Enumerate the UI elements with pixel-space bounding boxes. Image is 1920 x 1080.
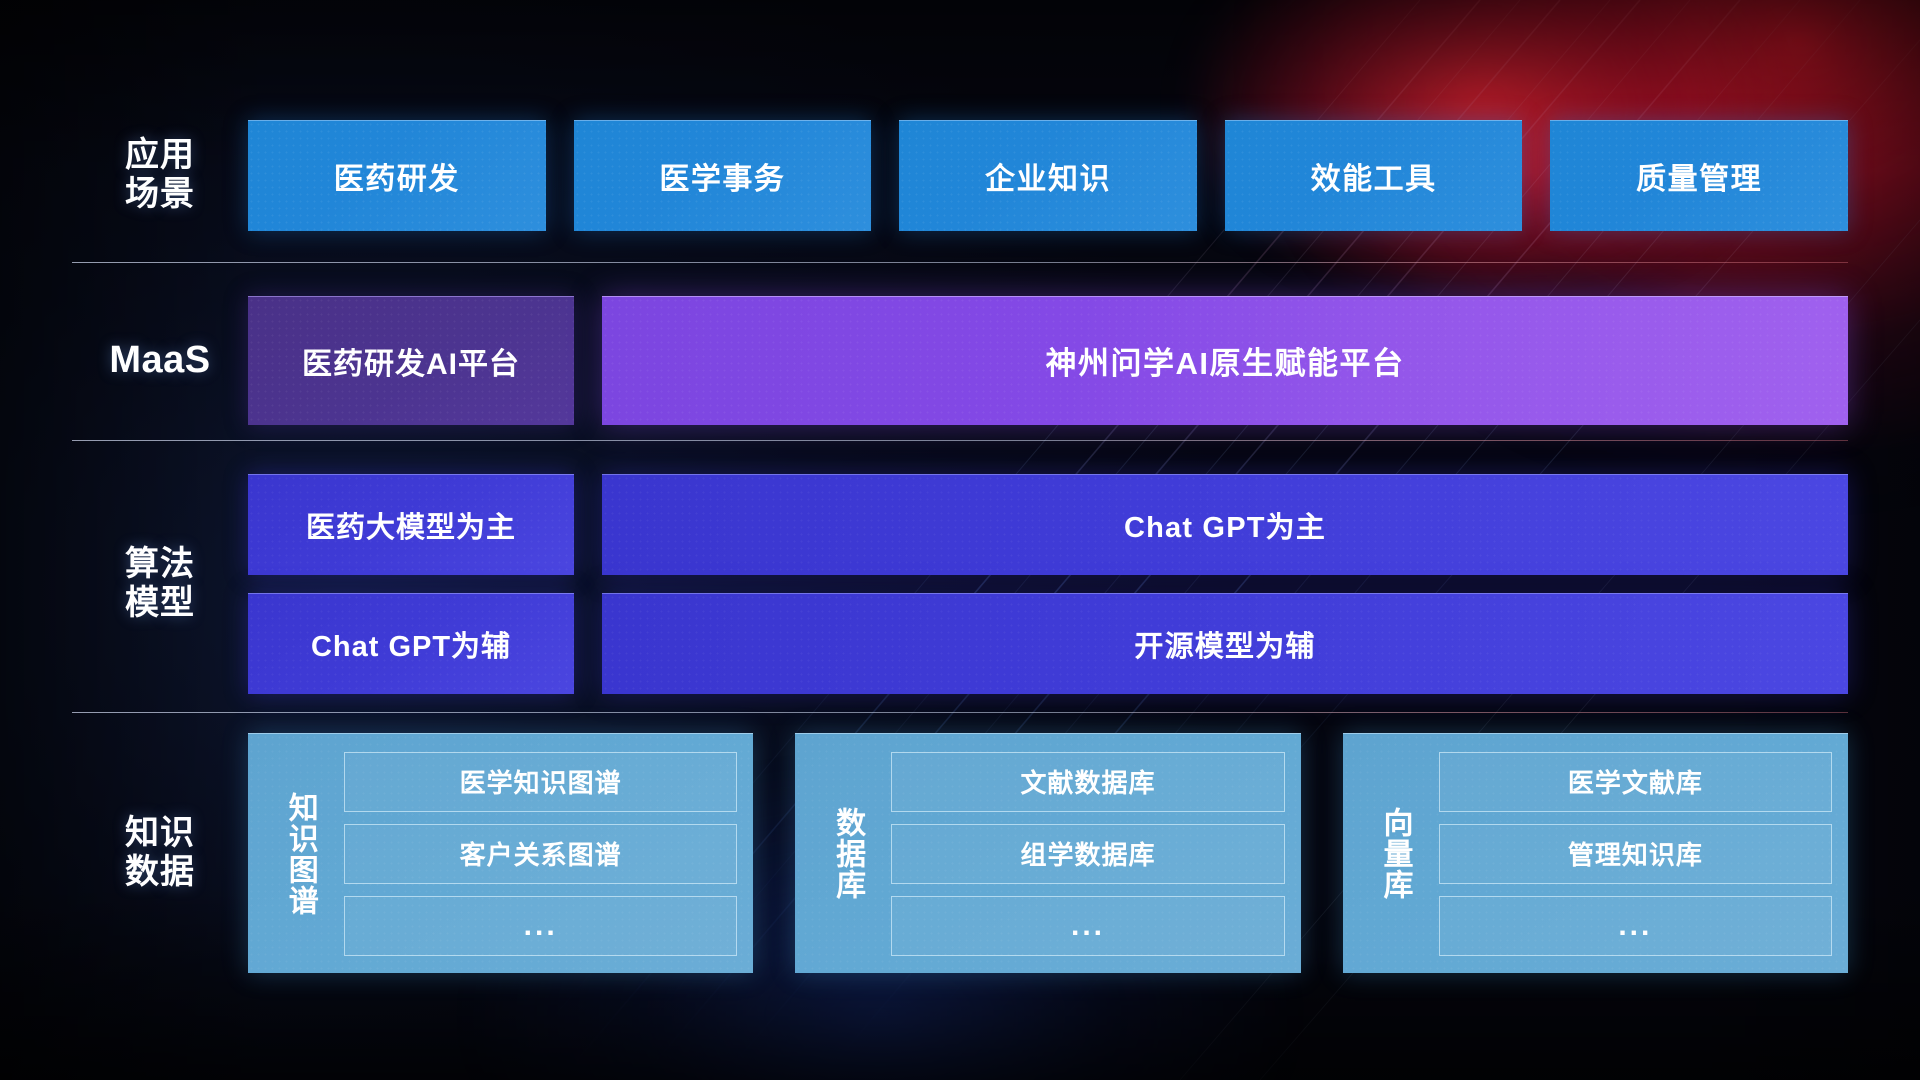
- layer-label-knowledge-data: 知识 数据: [72, 814, 248, 893]
- algorithm-box-stack: 医药大模型为主 Chat GPT为主 Chat GPT为辅 开源模型为辅: [248, 474, 1848, 694]
- divider-application-maas: [72, 262, 1848, 263]
- knowledge-group-title-vector-store: 向量库: [1359, 748, 1431, 959]
- layer-knowledge-data: 知识 数据 知识图谱 医学知识图谱 客户关系图谱 ... 数据库 文献数据库 组…: [72, 728, 1848, 978]
- knowledge-group-knowledge-graph[interactable]: 知识图谱 医学知识图谱 客户关系图谱 ...: [248, 733, 753, 973]
- knowledge-item-medical-knowledge-graph[interactable]: 医学知识图谱: [344, 752, 737, 812]
- app-box-efficiency-tools[interactable]: 效能工具: [1225, 120, 1523, 231]
- algo-box-open-source-secondary[interactable]: 开源模型为辅: [602, 593, 1848, 694]
- algorithm-line-primary: 医药大模型为主 Chat GPT为主: [248, 474, 1848, 575]
- maas-box-list: 医药研发AI平台 神州问学AI原生赋能平台: [248, 296, 1848, 425]
- knowledge-item-management-knowledge-store[interactable]: 管理知识库: [1439, 824, 1832, 884]
- knowledge-item-list-database: 文献数据库 组学数据库 ...: [883, 748, 1284, 959]
- knowledge-item-customer-relation-graph[interactable]: 客户关系图谱: [344, 824, 737, 884]
- app-box-medical-affairs[interactable]: 医学事务: [574, 120, 872, 231]
- knowledge-item-medical-literature-store[interactable]: 医学文献库: [1439, 752, 1832, 812]
- algo-box-chatgpt-secondary[interactable]: Chat GPT为辅: [248, 593, 574, 694]
- layer-label-maas: MaaS: [72, 338, 248, 382]
- knowledge-item-list-vector-store: 医学文献库 管理知识库 ...: [1431, 748, 1832, 959]
- knowledge-item-more-vector-store[interactable]: ...: [1439, 896, 1832, 956]
- layer-algorithm-models: 算法 模型 医药大模型为主 Chat GPT为主 Chat GPT为辅 开源模型…: [72, 466, 1848, 702]
- knowledge-group-list: 知识图谱 医学知识图谱 客户关系图谱 ... 数据库 文献数据库 组学数据库 .…: [248, 733, 1848, 973]
- knowledge-data-content: 知识图谱 医学知识图谱 客户关系图谱 ... 数据库 文献数据库 组学数据库 .…: [248, 733, 1848, 973]
- algo-box-pharma-llm-primary[interactable]: 医药大模型为主: [248, 474, 574, 575]
- knowledge-group-database[interactable]: 数据库 文献数据库 组学数据库 ...: [795, 733, 1300, 973]
- algorithm-line-secondary: Chat GPT为辅 开源模型为辅: [248, 593, 1848, 694]
- knowledge-group-title-knowledge-graph: 知识图谱: [264, 748, 336, 959]
- application-box-list: 医药研发 医学事务 企业知识 效能工具 质量管理: [248, 120, 1848, 231]
- application-scenarios-content: 医药研发 医学事务 企业知识 效能工具 质量管理: [248, 120, 1848, 231]
- divider-maas-algorithm: [72, 440, 1848, 441]
- algo-box-chatgpt-primary[interactable]: Chat GPT为主: [602, 474, 1848, 575]
- algorithm-models-content: 医药大模型为主 Chat GPT为主 Chat GPT为辅 开源模型为辅: [248, 474, 1848, 694]
- knowledge-item-literature-database[interactable]: 文献数据库: [891, 752, 1284, 812]
- app-box-enterprise-knowledge[interactable]: 企业知识: [899, 120, 1197, 231]
- knowledge-group-title-database: 数据库: [811, 748, 883, 959]
- knowledge-group-vector-store[interactable]: 向量库 医学文献库 管理知识库 ...: [1343, 733, 1848, 973]
- app-box-quality-management[interactable]: 质量管理: [1550, 120, 1848, 231]
- app-box-drug-rd[interactable]: 医药研发: [248, 120, 546, 231]
- layer-label-application-scenarios: 应用 场景: [72, 136, 248, 215]
- knowledge-item-more-knowledge-graph[interactable]: ...: [344, 896, 737, 956]
- knowledge-item-omics-database[interactable]: 组学数据库: [891, 824, 1284, 884]
- knowledge-item-list-knowledge-graph: 医学知识图谱 客户关系图谱 ...: [336, 748, 737, 959]
- layer-label-algorithm-models: 算法 模型: [72, 545, 248, 624]
- maas-box-shenzhou-wenxue-platform[interactable]: 神州问学AI原生赋能平台: [602, 296, 1848, 425]
- divider-algorithm-knowledge: [72, 712, 1848, 713]
- architecture-diagram: 应用 场景 医药研发 医学事务 企业知识 效能工具 质量管理 MaaS 医药研发…: [0, 0, 1920, 1080]
- knowledge-item-more-database[interactable]: ...: [891, 896, 1284, 956]
- maas-content: 医药研发AI平台 神州问学AI原生赋能平台: [248, 296, 1848, 425]
- layer-maas: MaaS 医药研发AI平台 神州问学AI原生赋能平台: [72, 290, 1848, 430]
- layer-application-scenarios: 应用 场景 医药研发 医学事务 企业知识 效能工具 质量管理: [72, 110, 1848, 240]
- maas-box-drug-rd-ai-platform[interactable]: 医药研发AI平台: [248, 296, 574, 425]
